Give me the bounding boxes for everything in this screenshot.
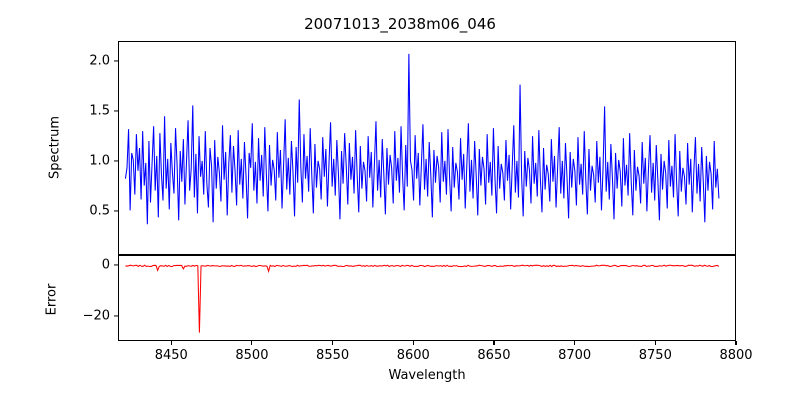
x-tick-mark — [574, 341, 575, 345]
y-tick-mark-spectrum — [114, 210, 118, 211]
x-tick-label: 8700 — [558, 348, 591, 363]
x-tick-label: 8450 — [155, 348, 188, 363]
x-tick-label: 8750 — [639, 348, 672, 363]
x-tick-mark — [413, 341, 414, 345]
y-tick-mark-spectrum — [114, 60, 118, 61]
y-axis-label-spectrum: Spectrum — [48, 88, 63, 208]
x-tick-mark — [735, 341, 736, 345]
x-tick-label: 8550 — [316, 348, 349, 363]
x-tick-mark — [493, 341, 494, 345]
y-tick-mark-error — [114, 265, 118, 266]
y-tick-label-spectrum: 0.5 — [70, 204, 110, 219]
x-tick-label: 8800 — [719, 348, 752, 363]
y-tick-label-error: −20 — [70, 308, 110, 323]
x-tick-mark — [251, 341, 252, 345]
x-tick-label: 8650 — [477, 348, 510, 363]
y-axis-label-error: Error — [45, 240, 60, 360]
y-tick-label-error: 0 — [70, 258, 110, 273]
y-tick-label-spectrum: 1.5 — [70, 104, 110, 119]
y-tick-label-spectrum: 1.0 — [70, 154, 110, 169]
x-tick-mark — [332, 341, 333, 345]
matplotlib-figure: 20071013_2038m06_046 8450850085508600865… — [0, 0, 800, 400]
x-tick-label: 8600 — [397, 348, 430, 363]
y-tick-mark-spectrum — [114, 110, 118, 111]
y-tick-mark-error — [114, 315, 118, 316]
y-tick-label-spectrum: 2.0 — [70, 54, 110, 69]
spectrum-line-series — [119, 42, 735, 254]
x-tick-mark — [171, 341, 172, 345]
error-line-series — [119, 256, 735, 340]
x-tick-label: 8500 — [235, 348, 268, 363]
figure-title: 20071013_2038m06_046 — [0, 15, 800, 33]
spectrum-plot-area — [118, 41, 736, 255]
error-plot-area — [118, 255, 736, 341]
x-axis-label: Wavelength — [118, 368, 736, 383]
y-tick-mark-spectrum — [114, 160, 118, 161]
x-tick-mark — [655, 341, 656, 345]
